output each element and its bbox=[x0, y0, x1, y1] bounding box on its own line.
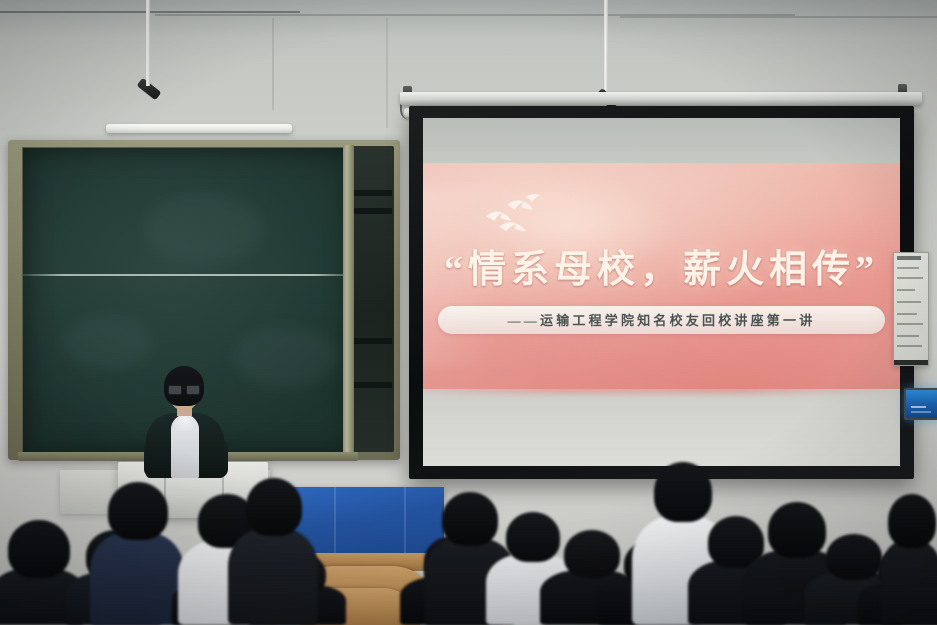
chalkboard-divider bbox=[23, 274, 353, 276]
audience-member bbox=[880, 494, 937, 625]
lamp-tube bbox=[106, 124, 292, 133]
lamp-rod bbox=[146, 0, 150, 68]
ceiling-band bbox=[0, 0, 937, 40]
screen-roller-housing bbox=[400, 92, 922, 105]
screen-canvas: “情系母校，薪火相传” ——运输工程学院知名校友回校讲座第一讲 bbox=[423, 118, 900, 466]
chalkboard-back-panel bbox=[352, 146, 394, 452]
wall-seam bbox=[386, 18, 388, 128]
speaker-collar bbox=[173, 415, 197, 431]
lamp-rod bbox=[146, 62, 150, 86]
lamp-rod bbox=[604, 0, 608, 94]
ceiling-seam-line bbox=[0, 11, 300, 13]
screen-blank-band-top bbox=[423, 118, 900, 163]
slide-subtitle: ——运输工程学院知名校友回校讲座第一讲 bbox=[438, 306, 885, 334]
screen-blank-band-bottom bbox=[423, 389, 900, 466]
lecture-hall-photo: “情系母校，薪火相传” ——运输工程学院知名校友回校讲座第一讲 bbox=[0, 0, 937, 625]
slide-subtitle-container: ——运输工程学院知名校友回校讲座第一讲 bbox=[438, 306, 885, 334]
presentation-slide: “情系母校，薪火相传” ——运输工程学院知名校友回校讲座第一讲 bbox=[423, 163, 900, 389]
speaker-glasses bbox=[168, 385, 200, 393]
projection-screen: “情系母校，薪火相传” ——运输工程学院知名校友回校讲座第一讲 bbox=[409, 106, 914, 479]
wall-info-display[interactable] bbox=[904, 388, 937, 420]
chalkboard-slide-rail bbox=[343, 145, 354, 453]
speaker-presenter bbox=[140, 366, 232, 478]
wall-notice-board bbox=[893, 252, 929, 366]
slide-title: “情系母校，薪火相传” bbox=[423, 238, 900, 293]
ceiling-seam-line bbox=[620, 16, 937, 18]
audience-member bbox=[90, 482, 184, 625]
audience-member bbox=[228, 478, 318, 625]
wall-seam bbox=[272, 18, 274, 110]
